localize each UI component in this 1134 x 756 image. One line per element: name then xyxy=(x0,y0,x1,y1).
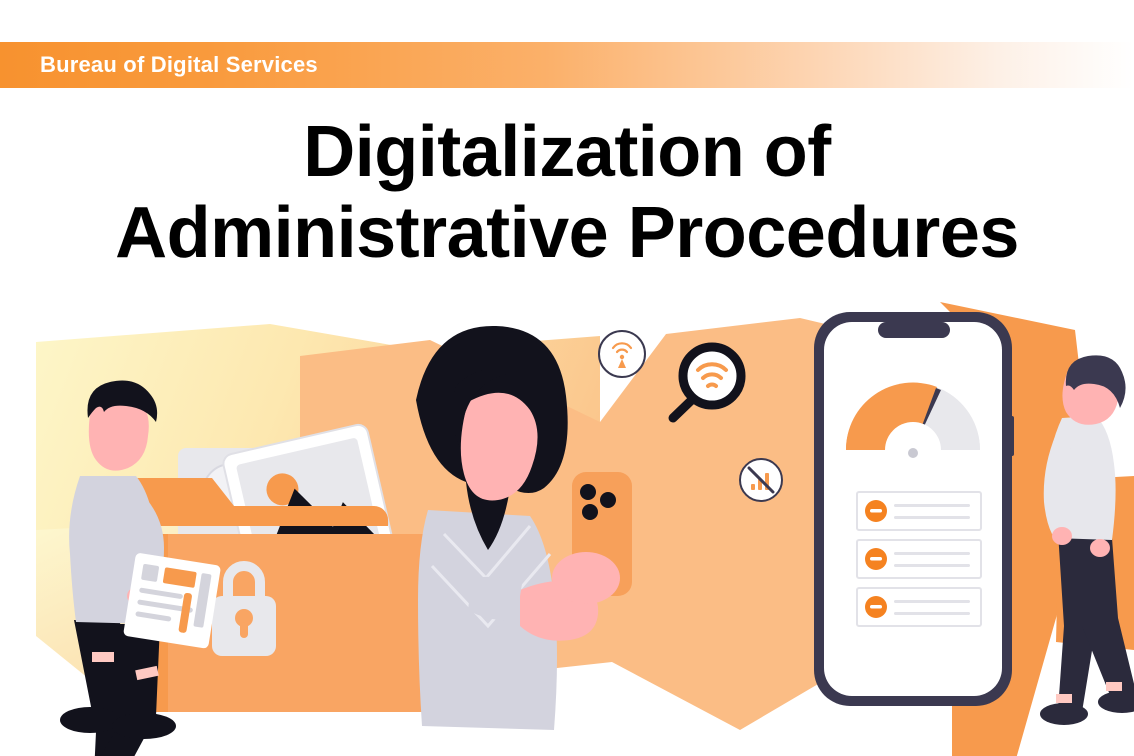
phone-side-button xyxy=(1010,416,1014,456)
camera-lens-1 xyxy=(580,484,596,500)
banner-title: Bureau of Digital Services xyxy=(40,50,318,80)
camera-lens-3 xyxy=(582,504,598,520)
gauge-pivot xyxy=(908,448,918,458)
shoe-right xyxy=(1098,691,1134,713)
list-row-2[interactable] xyxy=(857,540,981,578)
list-row-1[interactable] xyxy=(857,492,981,530)
shoe-right xyxy=(112,713,176,739)
smartphone-dashboard[interactable] xyxy=(814,312,1014,706)
shoe-left xyxy=(60,707,120,733)
badge-no-signal xyxy=(740,459,782,501)
hero-illustration xyxy=(0,290,1134,756)
phone-notch xyxy=(878,322,950,338)
badge-broadcast-tower xyxy=(599,331,645,377)
held-report-document xyxy=(123,552,221,648)
page-title: Digitalization of Administrative Procedu… xyxy=(0,112,1134,274)
page-title-line-2: Administrative Procedures xyxy=(0,193,1134,274)
hand-fingers xyxy=(552,552,620,604)
camera-lens-2 xyxy=(600,492,616,508)
slide-canvas: Bureau of Digital Services Digitalizatio… xyxy=(0,0,1134,756)
shoe-left xyxy=(1040,703,1088,725)
list-row-3[interactable] xyxy=(857,588,981,626)
hand-back xyxy=(1090,539,1110,557)
page-title-line-1: Digitalization of xyxy=(0,112,1134,193)
hand xyxy=(1052,527,1072,545)
